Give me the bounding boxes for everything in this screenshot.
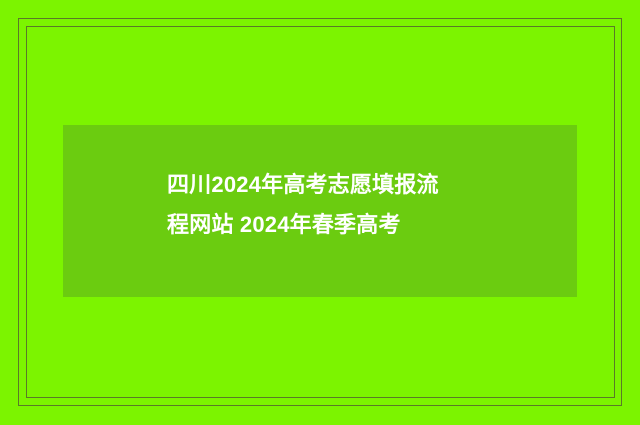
headline-text-block: 四川2024年高考志愿填报流 程网站 2024年春季高考 (167, 165, 497, 245)
banner-canvas: 四川2024年高考志愿填报流 程网站 2024年春季高考 (0, 0, 640, 425)
headline-line-1: 四川2024年高考志愿填报流 (167, 165, 497, 205)
content-panel: 四川2024年高考志愿填报流 程网站 2024年春季高考 (63, 125, 577, 297)
headline-line-2: 程网站 2024年春季高考 (167, 205, 497, 245)
